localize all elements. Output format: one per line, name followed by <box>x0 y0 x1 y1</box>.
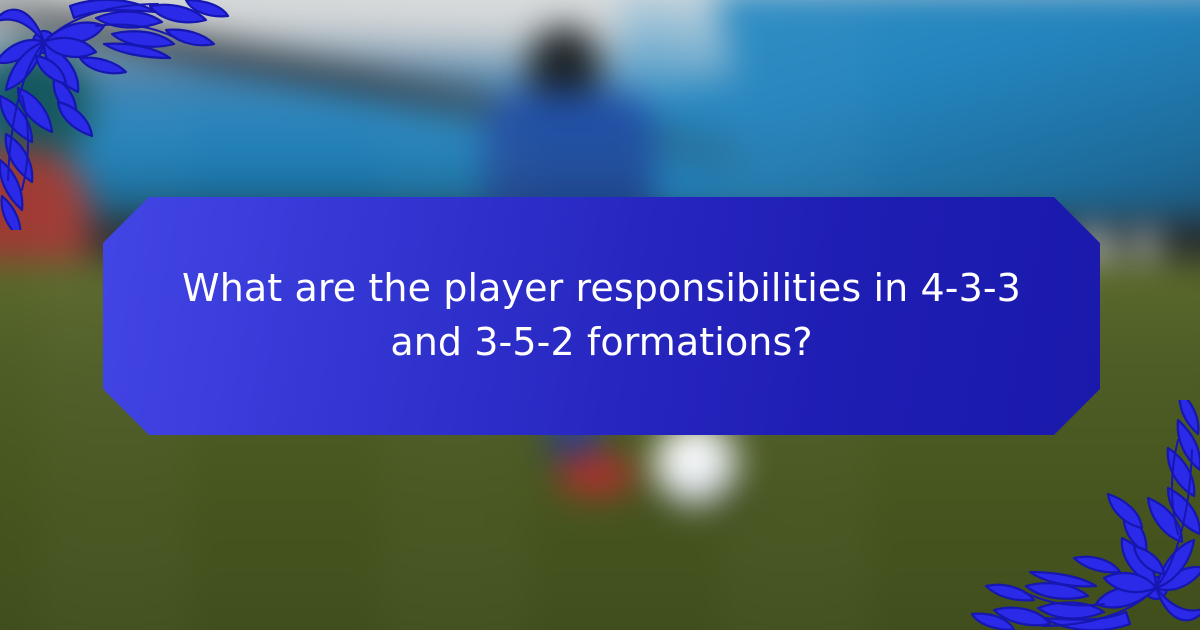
headline-text: What are the player responsibilities in … <box>103 262 1100 370</box>
headline-banner: What are the player responsibilities in … <box>103 197 1100 435</box>
share-card: N <box>0 0 1200 630</box>
player-boot <box>560 454 632 494</box>
